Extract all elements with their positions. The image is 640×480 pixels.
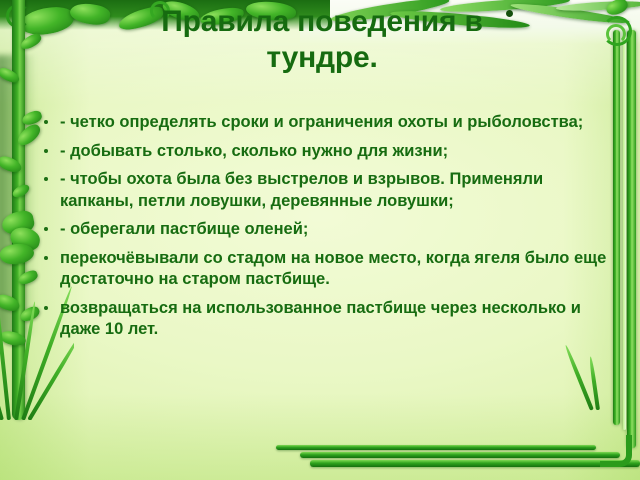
list-item: возвращаться на использованное пастбище …	[38, 298, 616, 341]
grass-blade	[0, 271, 11, 420]
bamboo-elbow	[600, 435, 632, 467]
bamboo-bar	[276, 445, 596, 450]
grass-blade	[14, 301, 37, 420]
page-title-line-1: Правила поведения в	[48, 4, 596, 40]
bottom-bamboo-border	[0, 434, 640, 480]
page-title-line-2: тундре.	[48, 40, 596, 76]
list-item: - чтобы охота была без выстрелов и взрыв…	[38, 169, 616, 212]
list-item: - четко определять сроки и ограничения о…	[38, 112, 616, 134]
page-title: Правила поведения в тундре.	[48, 4, 596, 76]
bamboo-highlight	[623, 30, 626, 430]
list-item: - оберегали пастбище оленей;	[38, 219, 616, 241]
bamboo-bar	[300, 452, 620, 458]
list-item: - добывать столько, сколько нужно для жи…	[38, 141, 616, 163]
bamboo-bar	[310, 460, 640, 467]
tendril-icon	[606, 24, 626, 44]
list-item: перекочёвывали со стадом на новое место,…	[38, 248, 616, 291]
grass-blade	[564, 344, 594, 410]
bamboo-stalk	[627, 30, 636, 448]
slide: Правила поведения в тундре. - четко опре…	[0, 0, 640, 480]
rules-list: - четко определять сроки и ограничения о…	[38, 112, 616, 348]
